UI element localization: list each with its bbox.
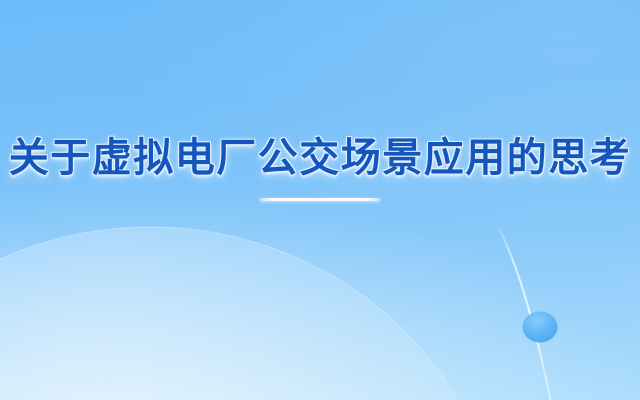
title-block: 关于虚拟电厂公交场景应用的思考 xyxy=(0,0,640,400)
slide-canvas: 关于虚拟电厂公交场景应用的思考 xyxy=(0,0,640,400)
title-divider xyxy=(260,198,380,201)
slide-title: 关于虚拟电厂公交场景应用的思考 xyxy=(9,138,632,178)
